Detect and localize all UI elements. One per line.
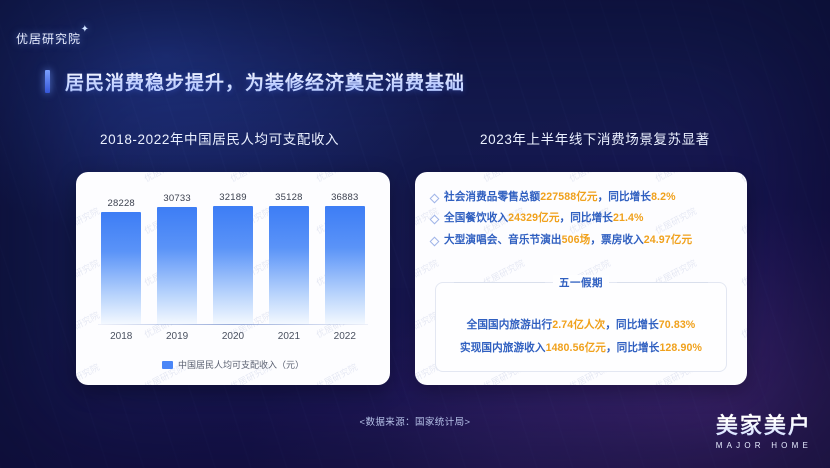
company-logo: 美家美户 MAJOR HOME bbox=[716, 408, 812, 450]
page-title: 居民消费稳步提升，为装修经济奠定消费基础 bbox=[45, 68, 465, 95]
watermark-text: 优居研究院 bbox=[481, 172, 527, 185]
holiday-subbox: 五一假期 全国国内旅游出行2.74亿人次，同比增长70.83% 实现国内旅游收入… bbox=[435, 282, 727, 372]
bar-value-label: 30733 bbox=[163, 193, 190, 204]
stat-value: 506场 bbox=[562, 234, 591, 246]
stat-text: ，票房收入 bbox=[590, 234, 643, 246]
holiday-subbox-header: 五一假期 bbox=[454, 275, 708, 290]
x-axis-tick-label: 2019 bbox=[154, 331, 200, 342]
stat-text: ，同比增长 bbox=[560, 212, 613, 224]
legend-label: 中国居民人均可支配收入（元） bbox=[178, 358, 304, 371]
chart-x-axis-labels: 20182019202020212022 bbox=[98, 331, 368, 342]
stat-bullet-item: 全国餐饮收入24329亿元，同比增长21.4% bbox=[431, 211, 731, 225]
diamond-bullet-icon bbox=[430, 194, 440, 204]
holiday-subbox-title: 五一假期 bbox=[553, 275, 609, 290]
stats-bullet-list: 社会消费品零售总额227588亿元，同比增长8.2%全国餐饮收入24329亿元，… bbox=[431, 190, 731, 247]
watermark-text: 优居研究院 bbox=[76, 172, 101, 185]
watermark-text: 优居研究院 bbox=[567, 172, 613, 185]
chart-bar-column: 28228 bbox=[98, 192, 144, 324]
stat-text: ，同比增长 bbox=[598, 191, 651, 203]
brand-name: 优居研究院 bbox=[16, 32, 81, 46]
stat-value: 2.74亿人次 bbox=[552, 319, 605, 331]
slide-root: 优居研究院 ✦ 居民消费稳步提升，为装修经济奠定消费基础 2018-2022年中… bbox=[0, 0, 830, 468]
left-section-caption: 2018-2022年中国居民人均可支配收入 bbox=[100, 128, 339, 148]
stat-text: 全国国内旅游出行 bbox=[467, 319, 553, 331]
stat-value: 24329亿元 bbox=[508, 212, 559, 224]
watermark-text: 优居研究院 bbox=[739, 172, 747, 185]
chart-bar bbox=[213, 206, 253, 324]
watermark-text: 优居研究院 bbox=[739, 204, 747, 237]
bar-value-label: 32189 bbox=[219, 192, 246, 203]
chart-bar-column: 30733 bbox=[154, 192, 200, 324]
stat-text: ，同比增长 bbox=[606, 342, 659, 354]
watermark-text: 优居研究院 bbox=[228, 172, 274, 185]
watermark-text: 优居研究院 bbox=[739, 308, 747, 341]
bar-chart-card: 优居研究院优居研究院优居研究院优居研究院优居研究院优居研究院优居研究院优居研究院… bbox=[76, 172, 390, 385]
sparkle-icon: ✦ bbox=[81, 24, 90, 35]
watermark-text: 优居研究院 bbox=[739, 360, 747, 385]
stat-bullet-item: 社会消费品零售总额227588亿元，同比增长8.2% bbox=[431, 190, 731, 204]
bar-value-label: 36883 bbox=[331, 192, 358, 203]
stat-bullet-text: 大型演唱会、音乐节演出506场，票房收入24.97亿元 bbox=[444, 233, 692, 247]
data-source-note: <数据来源：国家统计局> bbox=[0, 414, 830, 428]
chart-bar-column: 36883 bbox=[322, 192, 368, 324]
stat-text: 社会消费品零售总额 bbox=[444, 191, 540, 203]
chart-bar-column: 35128 bbox=[266, 192, 312, 324]
watermark-text: 优居研究院 bbox=[415, 172, 440, 185]
stat-value: 227588亿元 bbox=[540, 191, 597, 203]
stat-text: 大型演唱会、音乐节演出 bbox=[444, 234, 562, 246]
diamond-bullet-icon bbox=[430, 236, 440, 246]
stat-bullet-text: 社会消费品零售总额227588亿元，同比增长8.2% bbox=[444, 190, 676, 204]
watermark-text: 优居研究院 bbox=[739, 256, 747, 289]
chart-bar bbox=[325, 206, 365, 324]
x-axis-tick-label: 2018 bbox=[98, 331, 144, 342]
chart-bar-column: 32189 bbox=[210, 192, 256, 324]
stat-text: ，同比增长 bbox=[605, 319, 658, 331]
bar-value-label: 35128 bbox=[275, 192, 302, 203]
title-accent-bar bbox=[45, 70, 50, 93]
bar-chart: 2822830733321893512836883 20182019202020… bbox=[90, 186, 376, 371]
holiday-row: 实现国内旅游收入1480.56亿元，同比增长128.90% bbox=[446, 340, 716, 355]
x-axis-tick-label: 2020 bbox=[210, 331, 256, 342]
stats-content: 社会消费品零售总额227588亿元，同比增长8.2%全国餐饮收入24329亿元，… bbox=[431, 190, 731, 371]
stat-text: 实现国内旅游收入 bbox=[460, 342, 546, 354]
stat-value: 21.4% bbox=[613, 212, 644, 224]
headline-text: 居民消费稳步提升，为装修经济奠定消费基础 bbox=[65, 68, 465, 95]
stat-value: 1480.56亿元 bbox=[546, 342, 606, 354]
chart-plot-area: 2822830733321893512836883 bbox=[98, 192, 368, 324]
watermark-text: 优居研究院 bbox=[142, 172, 188, 185]
chart-bar bbox=[157, 207, 197, 324]
divider-left bbox=[454, 282, 545, 283]
brand-logo: 优居研究院 ✦ bbox=[16, 30, 81, 47]
right-section-caption: 2023年上半年线下消费场景复苏显著 bbox=[480, 128, 710, 148]
diamond-bullet-icon bbox=[430, 215, 440, 225]
stat-value: 24.97亿元 bbox=[644, 234, 692, 246]
chart-x-axis-line bbox=[98, 324, 368, 325]
stats-card: 优居研究院优居研究院优居研究院优居研究院优居研究院优居研究院优居研究院优居研究院… bbox=[415, 172, 747, 385]
stat-value: 8.2% bbox=[651, 191, 676, 203]
stat-value: 128.90% bbox=[659, 342, 702, 354]
watermark-text: 优居研究院 bbox=[653, 172, 699, 185]
legend-swatch-icon bbox=[162, 361, 173, 369]
logo-chinese: 美家美户 bbox=[716, 408, 812, 440]
bar-value-label: 28228 bbox=[108, 198, 135, 209]
divider-right bbox=[617, 282, 708, 283]
stat-bullet-item: 大型演唱会、音乐节演出506场，票房收入24.97亿元 bbox=[431, 233, 731, 247]
chart-bar bbox=[269, 206, 309, 324]
x-axis-tick-label: 2022 bbox=[322, 331, 368, 342]
chart-bar bbox=[101, 212, 141, 324]
chart-legend: 中国居民人均可支配收入（元） bbox=[90, 358, 376, 371]
watermark-text: 优居研究院 bbox=[314, 172, 360, 185]
stat-value: 70.83% bbox=[659, 319, 696, 331]
holiday-row: 全国国内旅游出行2.74亿人次，同比增长70.83% bbox=[446, 317, 716, 332]
x-axis-tick-label: 2021 bbox=[266, 331, 312, 342]
logo-english: MAJOR HOME bbox=[716, 441, 812, 450]
stat-bullet-text: 全国餐饮收入24329亿元，同比增长21.4% bbox=[444, 211, 644, 225]
stat-text: 全国餐饮收入 bbox=[444, 212, 508, 224]
